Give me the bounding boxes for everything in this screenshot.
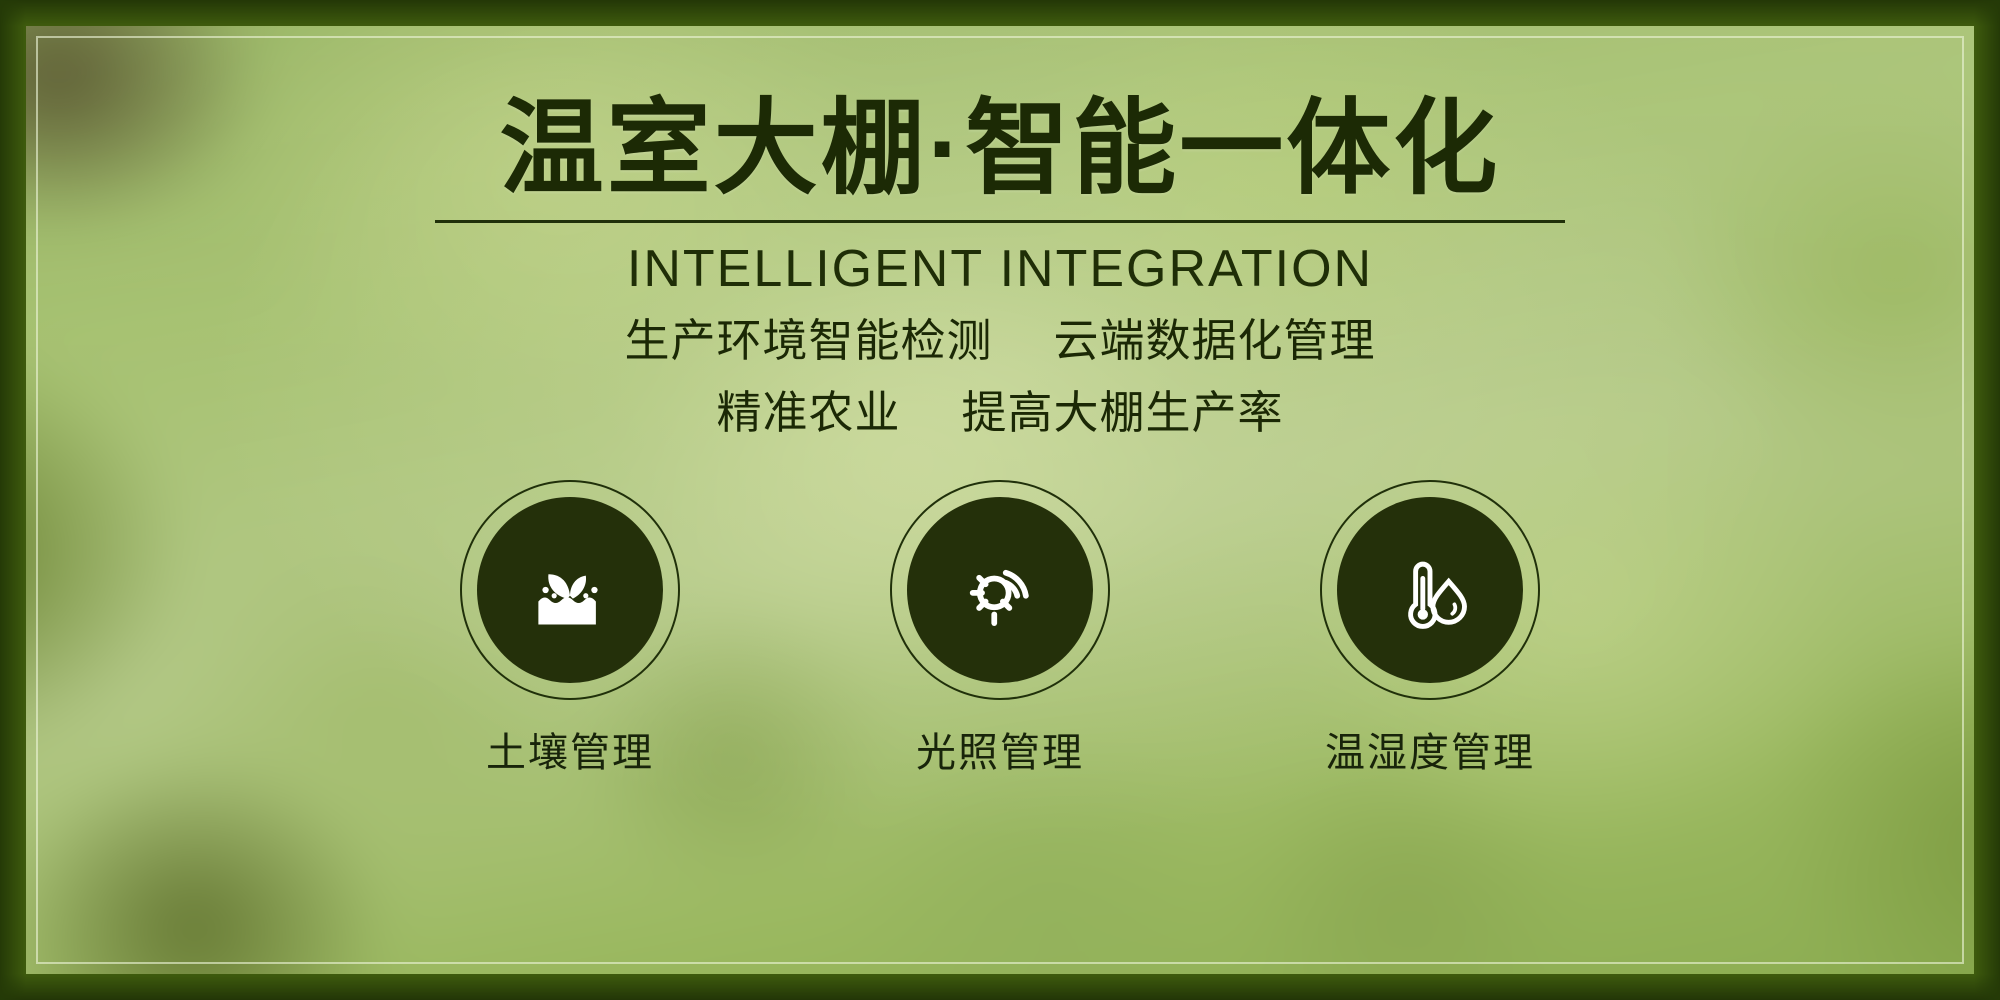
feature-circle-light[interactable] bbox=[900, 490, 1100, 690]
feature-item-soil[interactable]: 土壤管理 bbox=[450, 490, 690, 778]
feature-circle-soil[interactable] bbox=[470, 490, 670, 690]
subtitle-english: INTELLIGENT INTEGRATION bbox=[627, 239, 1373, 299]
title-divider bbox=[435, 220, 1565, 223]
description-2a: 精准农业 bbox=[716, 387, 900, 438]
page-title: 温室大棚·智能一体化 bbox=[500, 96, 1501, 202]
description-2b: 提高大棚生产率 bbox=[962, 387, 1284, 438]
circle-outline-ring bbox=[890, 480, 1110, 700]
circle-outline-ring bbox=[1320, 480, 1540, 700]
circle-outline-ring bbox=[460, 480, 680, 700]
feature-list: 土壤管理 bbox=[450, 490, 1550, 778]
description-line-1: 生产环境智能检测 云端数据化管理 bbox=[624, 311, 1375, 371]
description-1b: 云端数据化管理 bbox=[1054, 315, 1376, 366]
greenhouse-banner: 温室大棚·智能一体化 INTELLIGENT INTEGRATION 生产环境智… bbox=[0, 0, 2000, 1000]
description-line-2: 精准农业 提高大棚生产率 bbox=[716, 383, 1283, 443]
feature-label-soil: 土壤管理 bbox=[486, 720, 654, 778]
feature-circle-temp-humidity[interactable] bbox=[1330, 490, 1530, 690]
banner-content: 温室大棚·智能一体化 INTELLIGENT INTEGRATION 生产环境智… bbox=[0, 0, 2000, 1000]
feature-item-light[interactable]: 光照管理 bbox=[880, 490, 1120, 778]
description-1a: 生产环境智能检测 bbox=[624, 315, 992, 366]
feature-item-temp-humidity[interactable]: 温湿度管理 bbox=[1310, 490, 1550, 778]
feature-label-temp-humidity: 温湿度管理 bbox=[1325, 720, 1535, 778]
feature-label-light: 光照管理 bbox=[916, 720, 1084, 778]
